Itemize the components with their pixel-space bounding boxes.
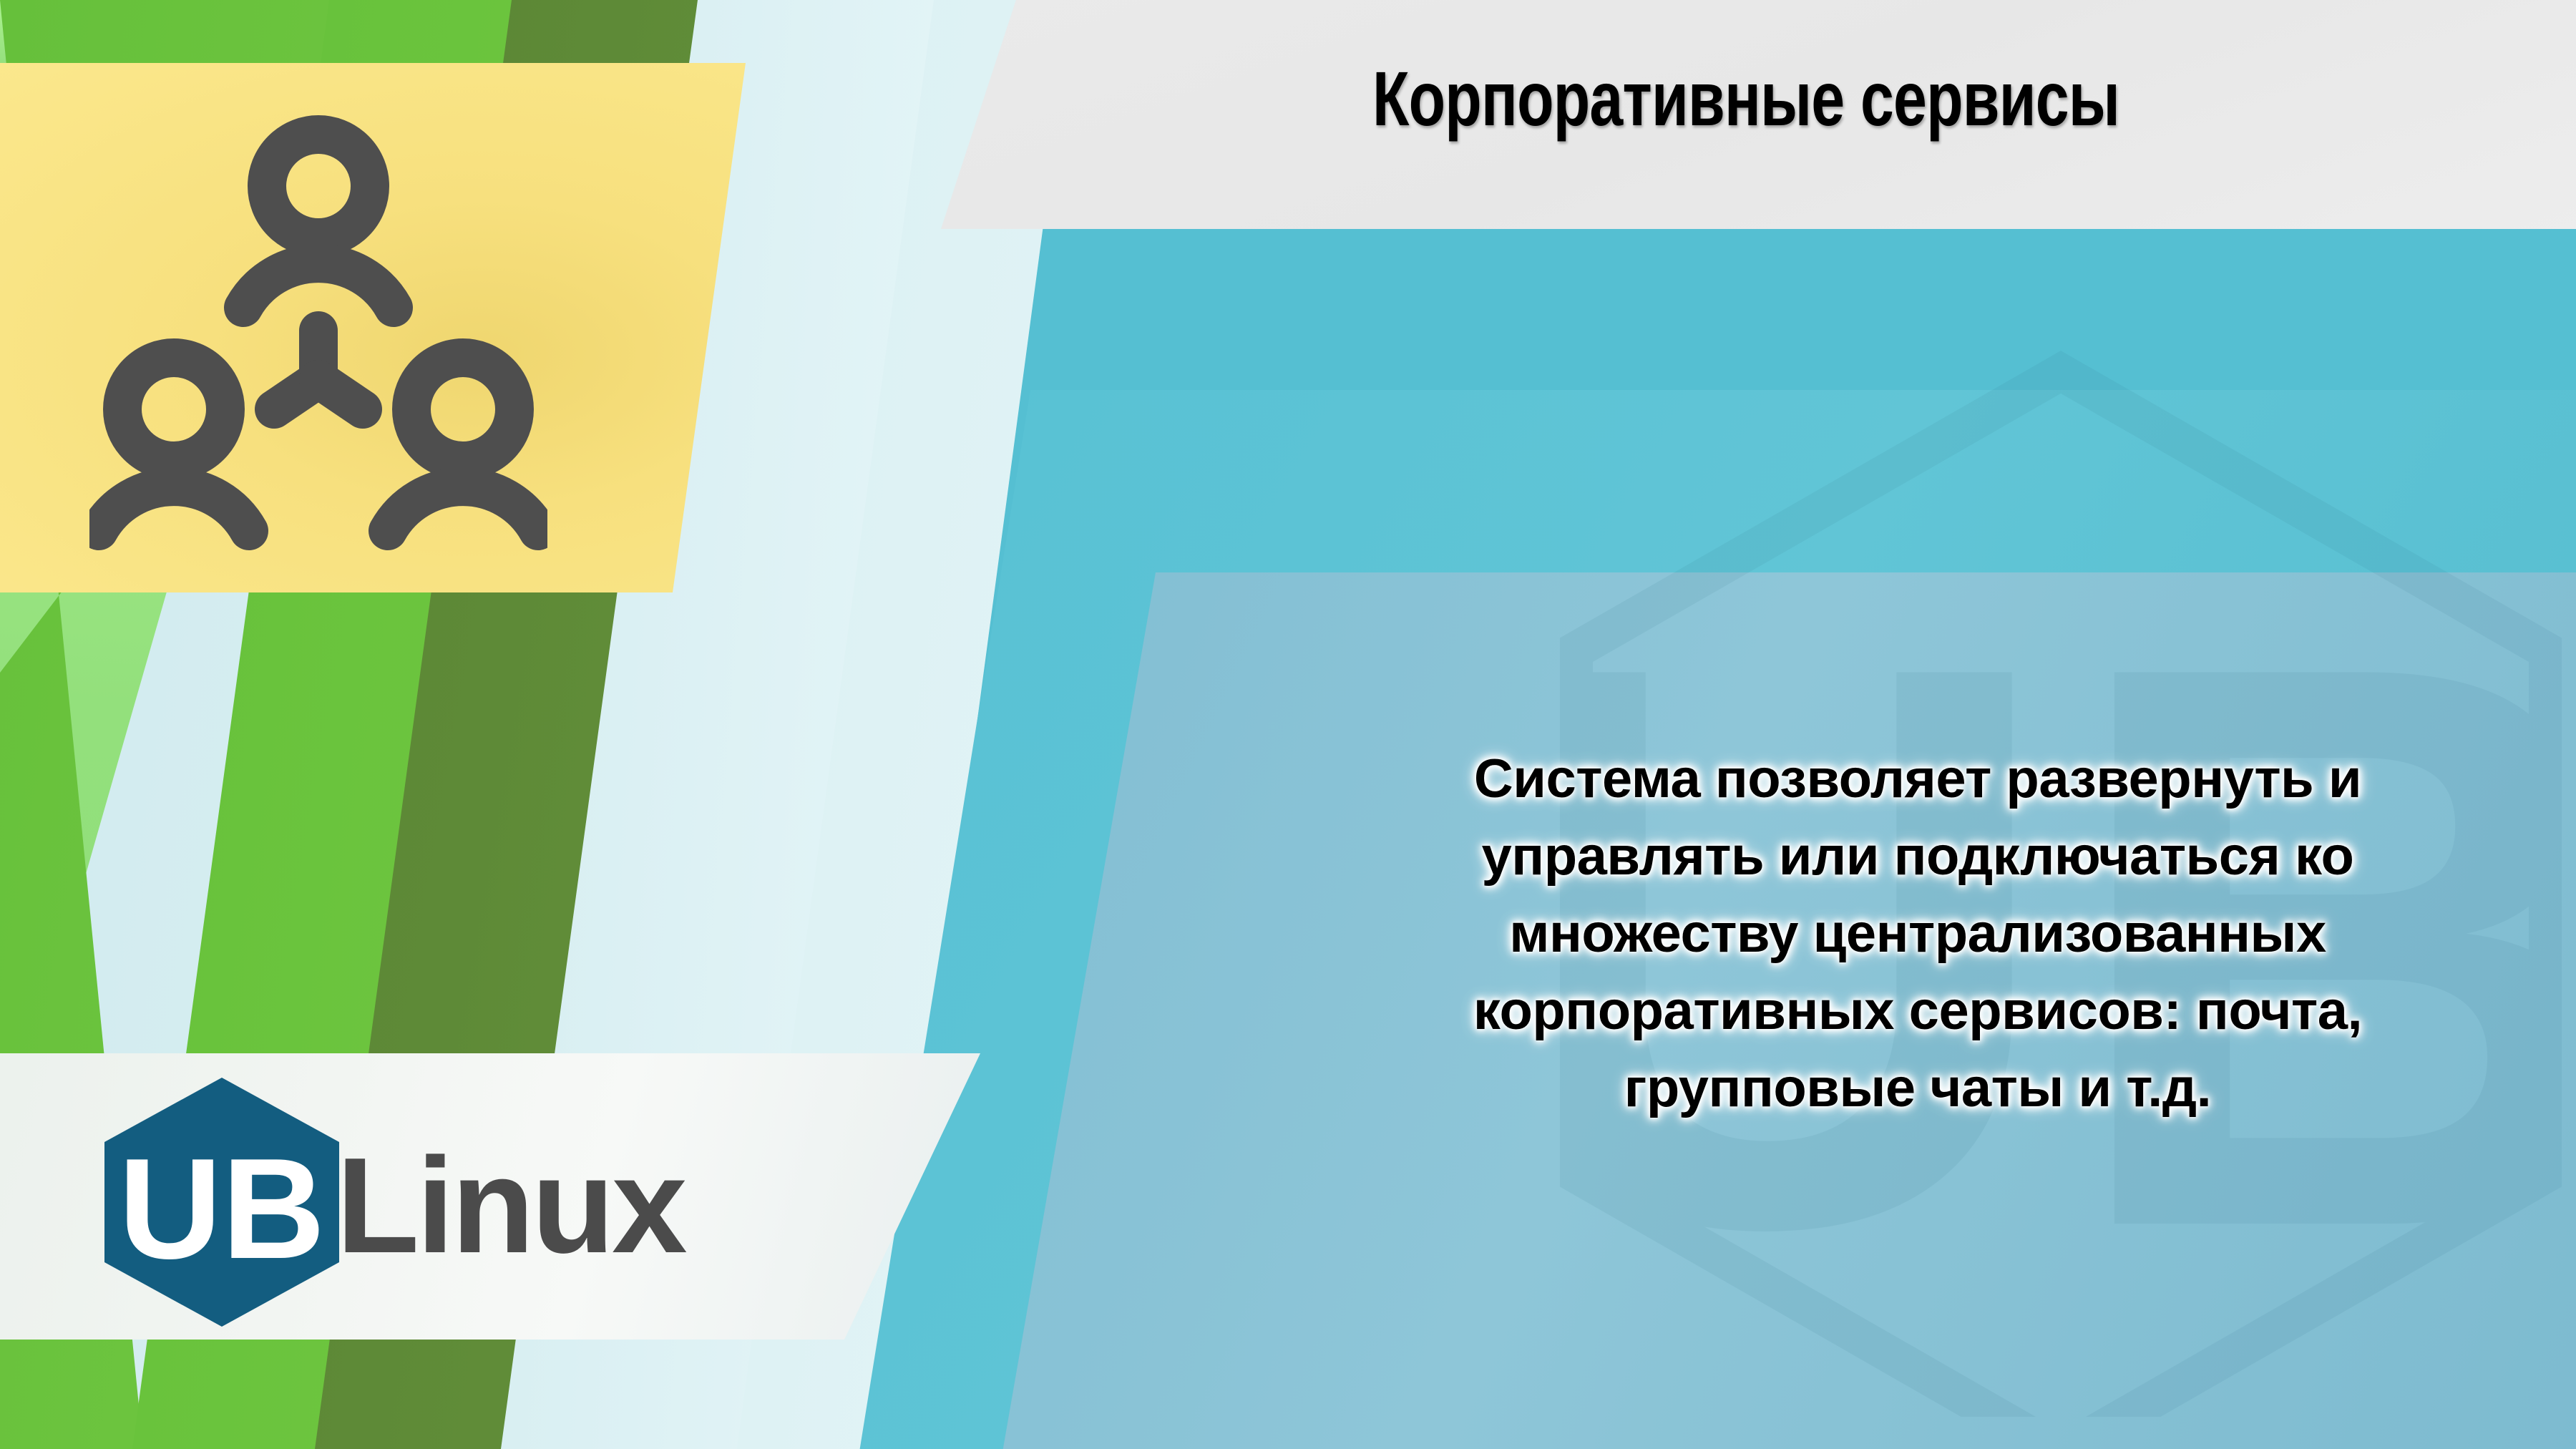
body-line: корпоративных сервисов: почта, (1309, 972, 2526, 1050)
ub-hexagon-logo-icon: UB (100, 1073, 343, 1331)
body-line: множеству централизованных (1309, 895, 2526, 972)
body-line: групповые чаты и т.д. (1309, 1050, 2526, 1127)
people-group-icon (89, 100, 547, 558)
presentation-slide: UB Корпоративные сервисы Система позволя… (0, 0, 2576, 1449)
svg-text:UB: UB (119, 1129, 326, 1289)
logo-wordmark: Linux (336, 1138, 685, 1274)
body-line: Система позволяет развернуть и (1309, 741, 2526, 818)
page-title: Корпоративные сервисы (1160, 16, 2332, 180)
body-paragraph: Система позволяет развернуть и управлять… (1309, 741, 2526, 1127)
body-line: управлять или подключаться ко (1309, 818, 2526, 895)
